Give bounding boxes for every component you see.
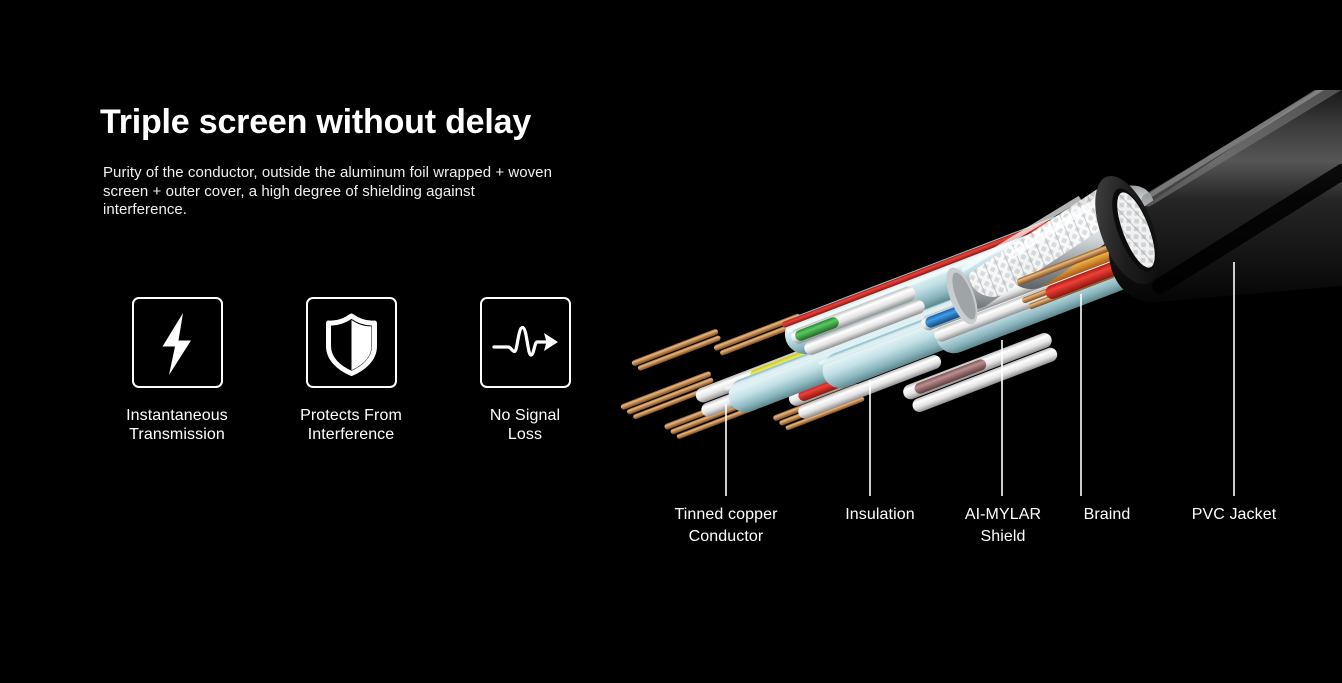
callout-line1: Braind <box>1084 506 1131 523</box>
callout-line1: Tinned copper <box>675 506 778 523</box>
callout-tinned-copper-conductor: Tinned copper Conductor <box>645 504 807 548</box>
callout-line2: Shield <box>980 528 1025 545</box>
callout-line2: Conductor <box>689 528 764 545</box>
callout-pvc-jacket: PVC Jacket <box>1160 504 1308 526</box>
callout-line1: AI-MYLAR <box>965 506 1041 523</box>
callout-line1: Insulation <box>845 506 915 523</box>
callout-braind: Braind <box>1046 504 1168 526</box>
callout-insulation: Insulation <box>810 504 950 526</box>
callout-labels: Tinned copper Conductor Insulation AI-MY… <box>0 0 1342 683</box>
callout-line1: PVC Jacket <box>1192 506 1277 523</box>
promo-banner: Triple screen without delay Purity of th… <box>0 0 1342 683</box>
